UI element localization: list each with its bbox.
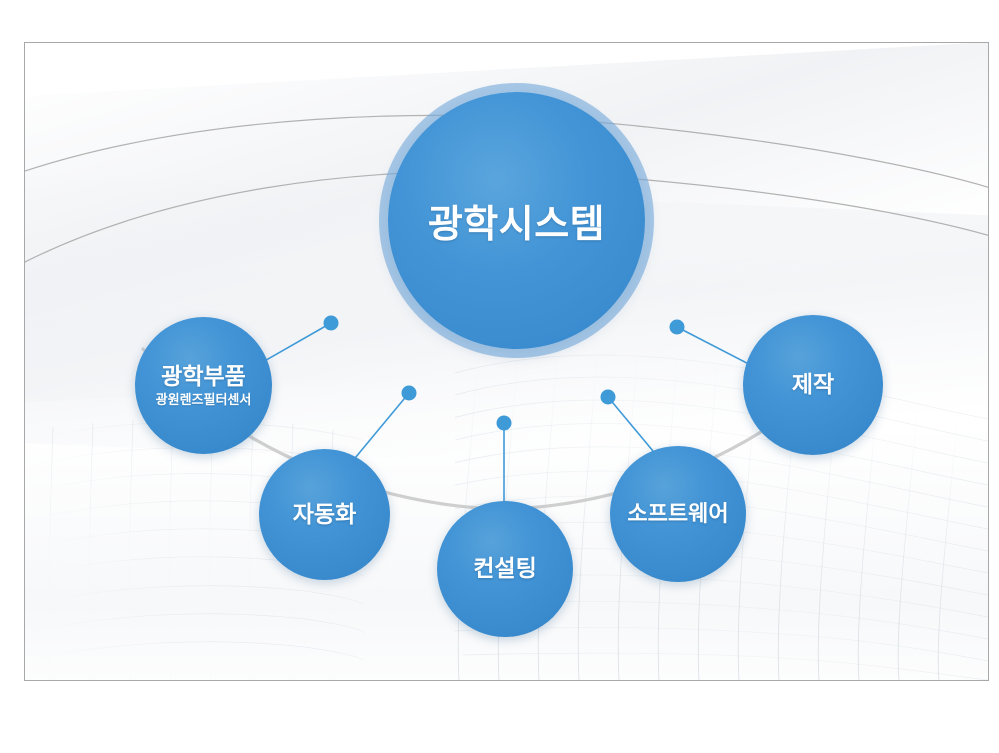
branch-node-manufacturing-title: 제작 bbox=[792, 371, 834, 398]
branch-node-optical-parts-subtitle: 광원렌즈필터센서 bbox=[156, 392, 252, 408]
branch-node-consulting[interactable]: 컨설팅 bbox=[437, 501, 573, 637]
branch-node-automation-title: 자동화 bbox=[293, 501, 356, 528]
branch-node-software-title: 소프트웨어 bbox=[627, 501, 728, 527]
dot-software bbox=[601, 390, 616, 405]
slide-canvas: 광학시스템 광학부품 광원렌즈필터센서 자동화 컨설팅 소프트웨어 제작 bbox=[0, 0, 999, 753]
dot-consulting bbox=[497, 416, 512, 431]
branch-node-manufacturing[interactable]: 제작 bbox=[743, 315, 883, 455]
slide-frame: 광학시스템 광학부품 광원렌즈필터센서 자동화 컨설팅 소프트웨어 제작 bbox=[24, 42, 989, 681]
branch-node-automation[interactable]: 자동화 bbox=[259, 449, 390, 580]
dot-manufacturing bbox=[670, 320, 685, 335]
branch-node-consulting-title: 컨설팅 bbox=[473, 555, 536, 582]
dot-automation bbox=[402, 386, 417, 401]
branch-node-optical-parts[interactable]: 광학부품 광원렌즈필터센서 bbox=[135, 317, 272, 454]
branch-node-optical-parts-title: 광학부품 bbox=[161, 363, 246, 390]
hub-node-title: 광학시스템 bbox=[428, 193, 605, 248]
branch-node-software[interactable]: 소프트웨어 bbox=[610, 446, 746, 582]
hub-node-optical-system[interactable]: 광학시스템 bbox=[388, 92, 645, 349]
dot-optical-parts bbox=[324, 316, 339, 331]
